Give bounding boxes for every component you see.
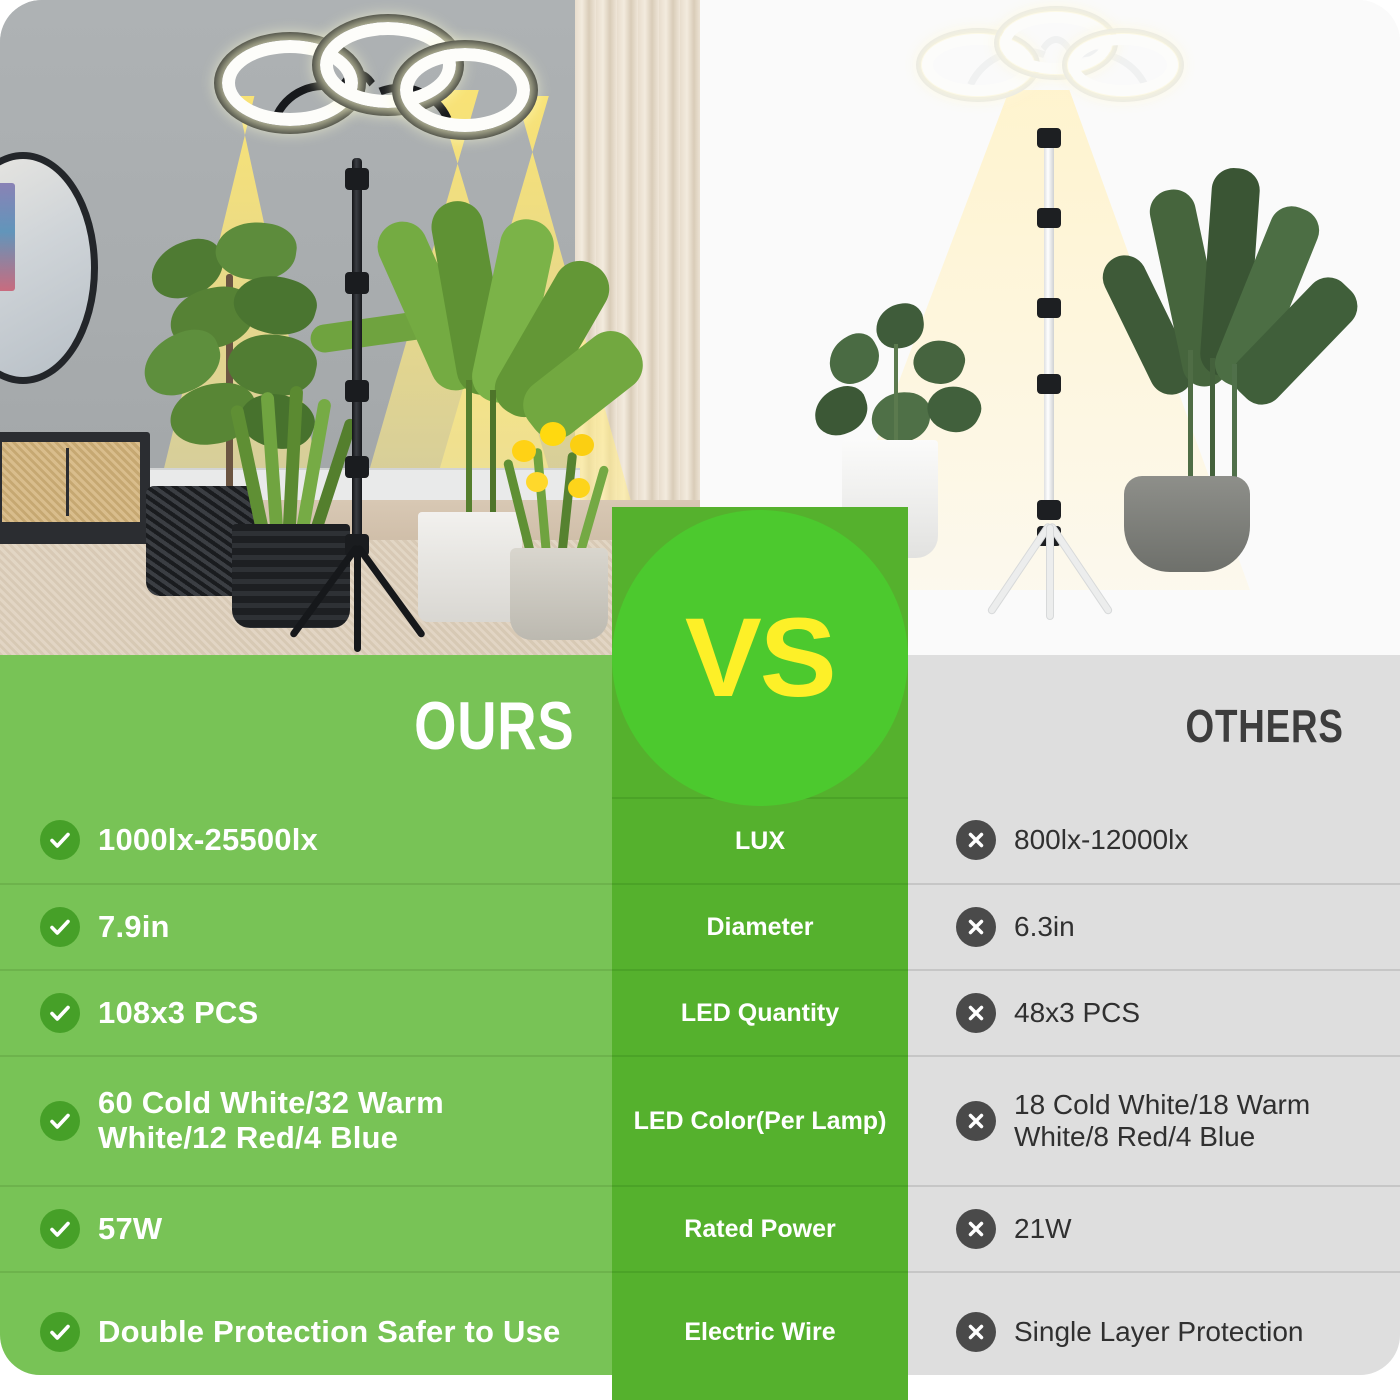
check-icon xyxy=(40,1101,80,1141)
comparison-infographic: OURS 1000lx-25500lx 7.9in xyxy=(0,0,1400,1400)
ours-header: OURS xyxy=(0,655,612,797)
pole-clamp xyxy=(1037,500,1061,520)
table-row: Double Protection Safer to Use xyxy=(0,1271,612,1375)
ours-column: OURS 1000lx-25500lx 7.9in xyxy=(0,655,612,1375)
others-value: Single Layer Protection xyxy=(1014,1316,1304,1348)
check-icon xyxy=(40,993,80,1033)
cross-icon xyxy=(956,820,996,860)
feature-row: Diameter xyxy=(612,883,908,969)
others-value: 21W xyxy=(1014,1213,1072,1245)
table-row: 18 Cold White/18 Warm White/8 Red/4 Blue xyxy=(908,1055,1400,1185)
check-icon xyxy=(40,1312,80,1352)
ring-light xyxy=(1068,34,1178,96)
others-value: 48x3 PCS xyxy=(1014,997,1140,1029)
table-row: 60 Cold White/32 Warm White/12 Red/4 Blu… xyxy=(0,1055,612,1185)
others-column: OTHERS 800lx-12000lx 6.3in xyxy=(908,655,1400,1375)
pole-clamp xyxy=(1037,298,1061,318)
check-icon xyxy=(40,907,80,947)
check-icon xyxy=(40,820,80,860)
table-row: 800lx-12000lx xyxy=(908,797,1400,883)
plant-pot-gray xyxy=(1124,476,1250,572)
table-row: 6.3in xyxy=(908,883,1400,969)
table-row: 7.9in xyxy=(0,883,612,969)
table-row: 57W xyxy=(0,1185,612,1271)
tripod-leg xyxy=(1046,524,1054,620)
table-row: 48x3 PCS xyxy=(908,969,1400,1055)
ring-light xyxy=(400,48,530,132)
cross-icon xyxy=(956,1209,996,1249)
cross-icon xyxy=(956,993,996,1033)
pole-clamp xyxy=(1037,208,1061,228)
feature-row: Rated Power xyxy=(612,1185,908,1271)
ours-value: 60 Cold White/32 Warm White/12 Red/4 Blu… xyxy=(98,1086,578,1155)
vs-label: VS xyxy=(685,602,835,714)
ours-value: 1000lx-25500lx xyxy=(98,823,318,858)
table-row: 108x3 PCS xyxy=(0,969,612,1055)
tripod-pole xyxy=(1044,130,1054,520)
feature-label: Diameter xyxy=(695,913,826,942)
pole-clamp xyxy=(345,168,369,190)
others-header-label: OTHERS xyxy=(1186,699,1344,753)
pole-clamp xyxy=(1037,374,1061,394)
pole-clamp xyxy=(345,272,369,294)
ours-value: 7.9in xyxy=(98,910,170,945)
feature-label: LED Quantity xyxy=(669,999,851,1028)
vs-badge: VS xyxy=(612,510,908,806)
feature-row: LUX xyxy=(612,797,908,883)
ours-value: 57W xyxy=(98,1212,162,1247)
feature-label: LED Color(Per Lamp) xyxy=(622,1107,899,1136)
ours-header-label: OURS xyxy=(414,687,574,765)
check-icon xyxy=(40,1209,80,1249)
tripod-leg xyxy=(354,546,361,652)
feature-row: LED Quantity xyxy=(612,969,908,1055)
comparison-table: OURS 1000lx-25500lx 7.9in xyxy=(0,655,1400,1375)
cross-icon xyxy=(956,1312,996,1352)
others-header: OTHERS xyxy=(908,655,1400,797)
ours-value: Double Protection Safer to Use xyxy=(98,1315,560,1350)
cross-icon xyxy=(956,907,996,947)
pole-clamp xyxy=(345,380,369,402)
table-row: Single Layer Protection xyxy=(908,1271,1400,1375)
others-value: 6.3in xyxy=(1014,911,1075,943)
table-row: 21W xyxy=(908,1185,1400,1271)
feature-label: Electric Wire xyxy=(672,1318,847,1347)
feature-label: LUX xyxy=(723,827,797,856)
ours-lifestyle-photo xyxy=(0,0,700,658)
sideboard-cabinet xyxy=(0,432,150,544)
ours-value: 108x3 PCS xyxy=(98,996,258,1031)
plant-bird-of-paradise xyxy=(1076,150,1326,480)
others-value: 18 Cold White/18 Warm White/8 Red/4 Blue xyxy=(1014,1089,1394,1153)
cross-icon xyxy=(956,1101,996,1141)
tripod-pole xyxy=(352,158,362,558)
plant-pot-concrete xyxy=(510,548,608,640)
others-value: 800lx-12000lx xyxy=(1014,824,1188,856)
feature-label: Rated Power xyxy=(672,1215,847,1244)
feature-row: LED Color(Per Lamp) xyxy=(612,1055,908,1185)
feature-row: Electric Wire xyxy=(612,1271,908,1391)
pole-clamp xyxy=(345,456,369,478)
pole-clamp xyxy=(1037,128,1061,148)
table-row: 1000lx-25500lx xyxy=(0,797,612,883)
